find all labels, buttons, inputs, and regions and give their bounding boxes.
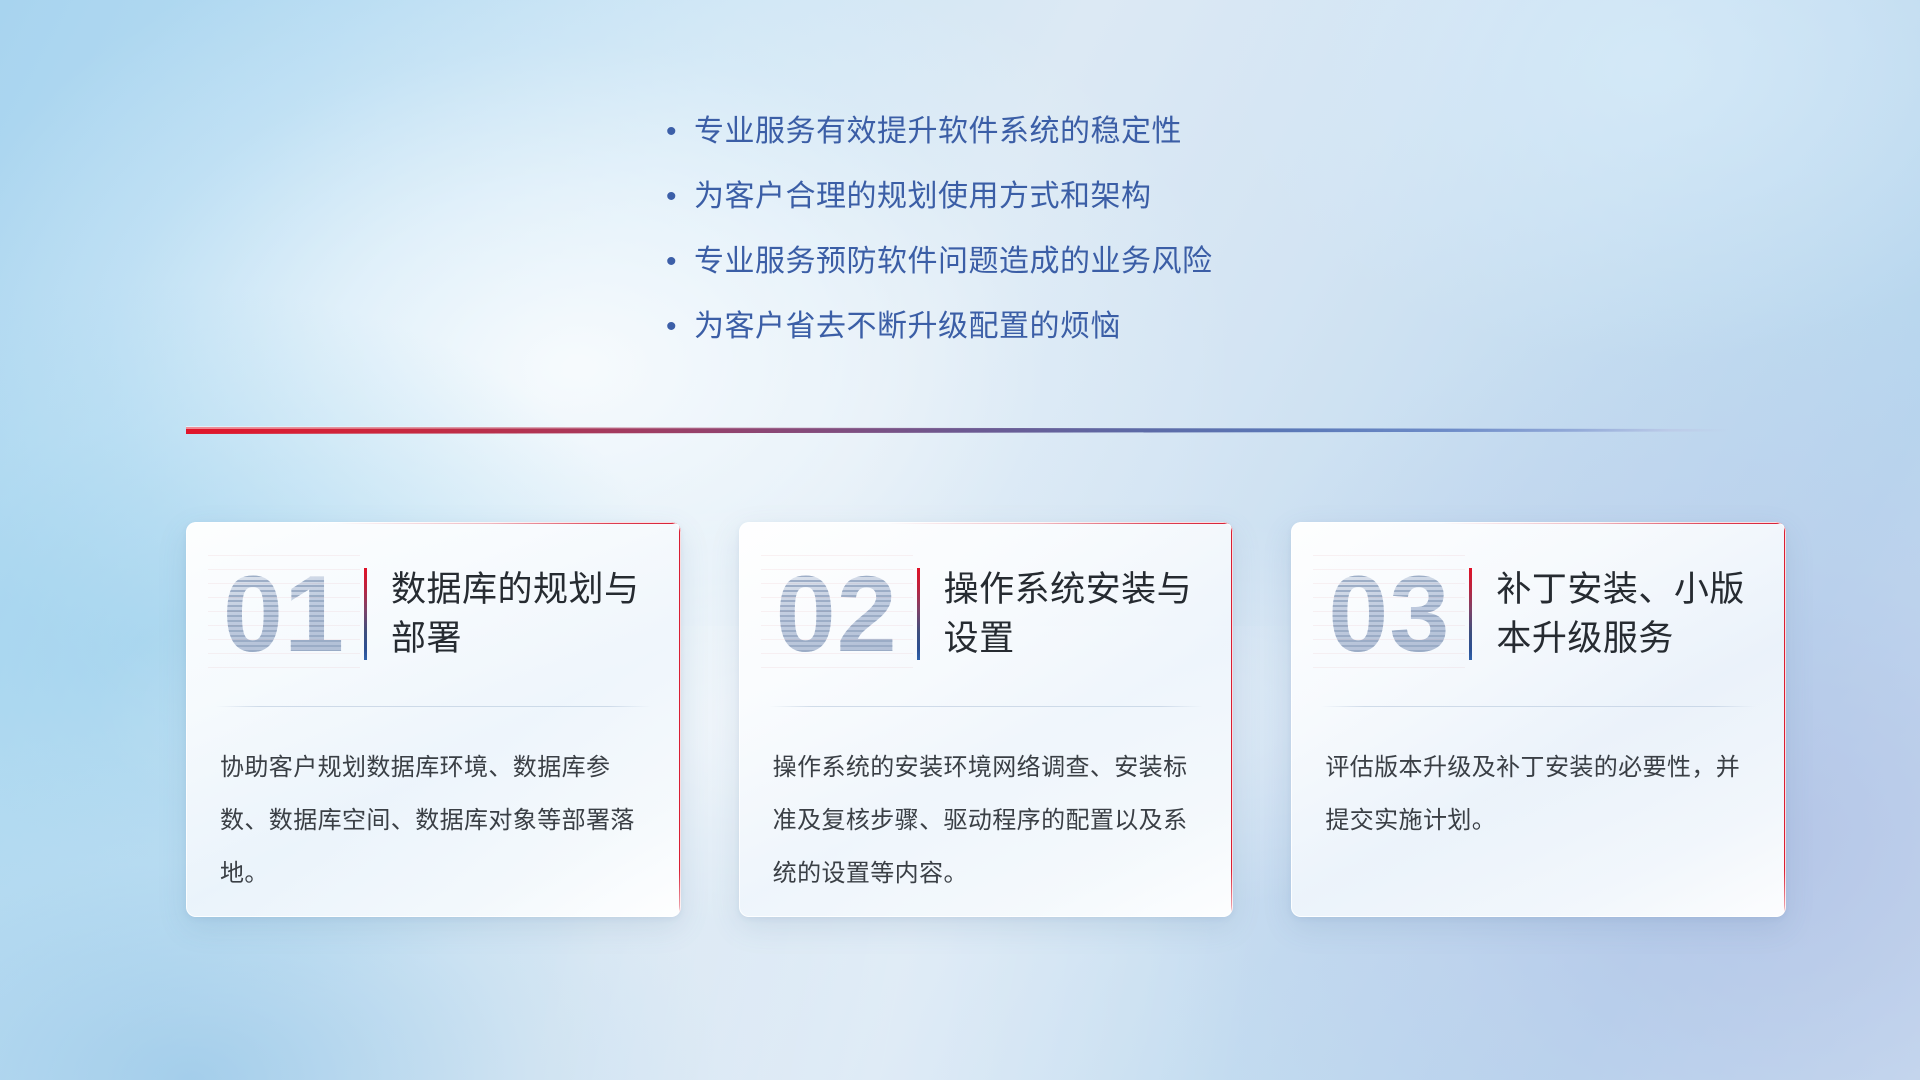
card-title: 数据库的规划与部署 <box>391 565 655 663</box>
card-number-watermark: 03 <box>1313 555 1465 673</box>
card-title: 操作系统安装与设置 <box>944 565 1208 663</box>
card-header: 03 补丁安装、小版本升级服务 <box>1291 522 1786 706</box>
benefits-bullet-list: • 专业服务有效提升软件系统的稳定性 • 为客户合理的规划使用方式和架构 • 专… <box>660 112 1560 372</box>
list-item: • 为客户省去不断升级配置的烦恼 <box>660 307 1560 372</box>
bullet-text: 为客户合理的规划使用方式和架构 <box>694 177 1152 217</box>
list-item: • 为客户合理的规划使用方式和架构 <box>660 177 1560 242</box>
card-description: 协助客户规划数据库环境、数据库参数、数据库空间、数据库对象等部署落地。 <box>186 707 681 900</box>
divider-highlight <box>186 426 1144 429</box>
card-description: 评估版本升级及补丁安装的必要性，并提交实施计划。 <box>1291 707 1786 847</box>
list-item: • 专业服务有效提升软件系统的稳定性 <box>660 112 1560 177</box>
service-card-02[interactable]: 02 操作系统安装与设置 操作系统的安装环境网络调查、安装标准及复核步骤、驱动程… <box>739 522 1234 917</box>
card-description: 操作系统的安装环境网络调查、安装标准及复核步骤、驱动程序的配置以及系统的设置等内… <box>739 707 1234 900</box>
bullet-dot-icon: • <box>660 307 694 347</box>
section-divider <box>186 424 1731 438</box>
card-header: 02 操作系统安装与设置 <box>739 522 1234 706</box>
bullet-text: 专业服务预防软件问题造成的业务风险 <box>694 242 1213 282</box>
card-header: 01 数据库的规划与部署 <box>186 522 681 706</box>
bullet-text: 为客户省去不断升级配置的烦恼 <box>694 307 1121 347</box>
card-title-rule <box>917 568 920 660</box>
bullet-text: 专业服务有效提升软件系统的稳定性 <box>694 112 1182 152</box>
card-title: 补丁安装、小版本升级服务 <box>1496 565 1760 663</box>
card-title-rule <box>1469 568 1472 660</box>
card-number-watermark: 02 <box>761 555 913 673</box>
list-item: • 专业服务预防软件问题造成的业务风险 <box>660 242 1560 307</box>
slide-canvas: • 专业服务有效提升软件系统的稳定性 • 为客户合理的规划使用方式和架构 • 专… <box>0 0 1920 1080</box>
bullet-dot-icon: • <box>660 112 694 152</box>
service-card-row: 01 数据库的规划与部署 协助客户规划数据库环境、数据库参数、数据库空间、数据库… <box>186 522 1786 917</box>
bullet-dot-icon: • <box>660 177 694 217</box>
service-card-03[interactable]: 03 补丁安装、小版本升级服务 评估版本升级及补丁安装的必要性，并提交实施计划。 <box>1291 522 1786 917</box>
bullet-dot-icon: • <box>660 242 694 282</box>
card-number-watermark: 01 <box>208 555 360 673</box>
card-title-rule <box>364 568 367 660</box>
service-card-01[interactable]: 01 数据库的规划与部署 协助客户规划数据库环境、数据库参数、数据库空间、数据库… <box>186 522 681 917</box>
